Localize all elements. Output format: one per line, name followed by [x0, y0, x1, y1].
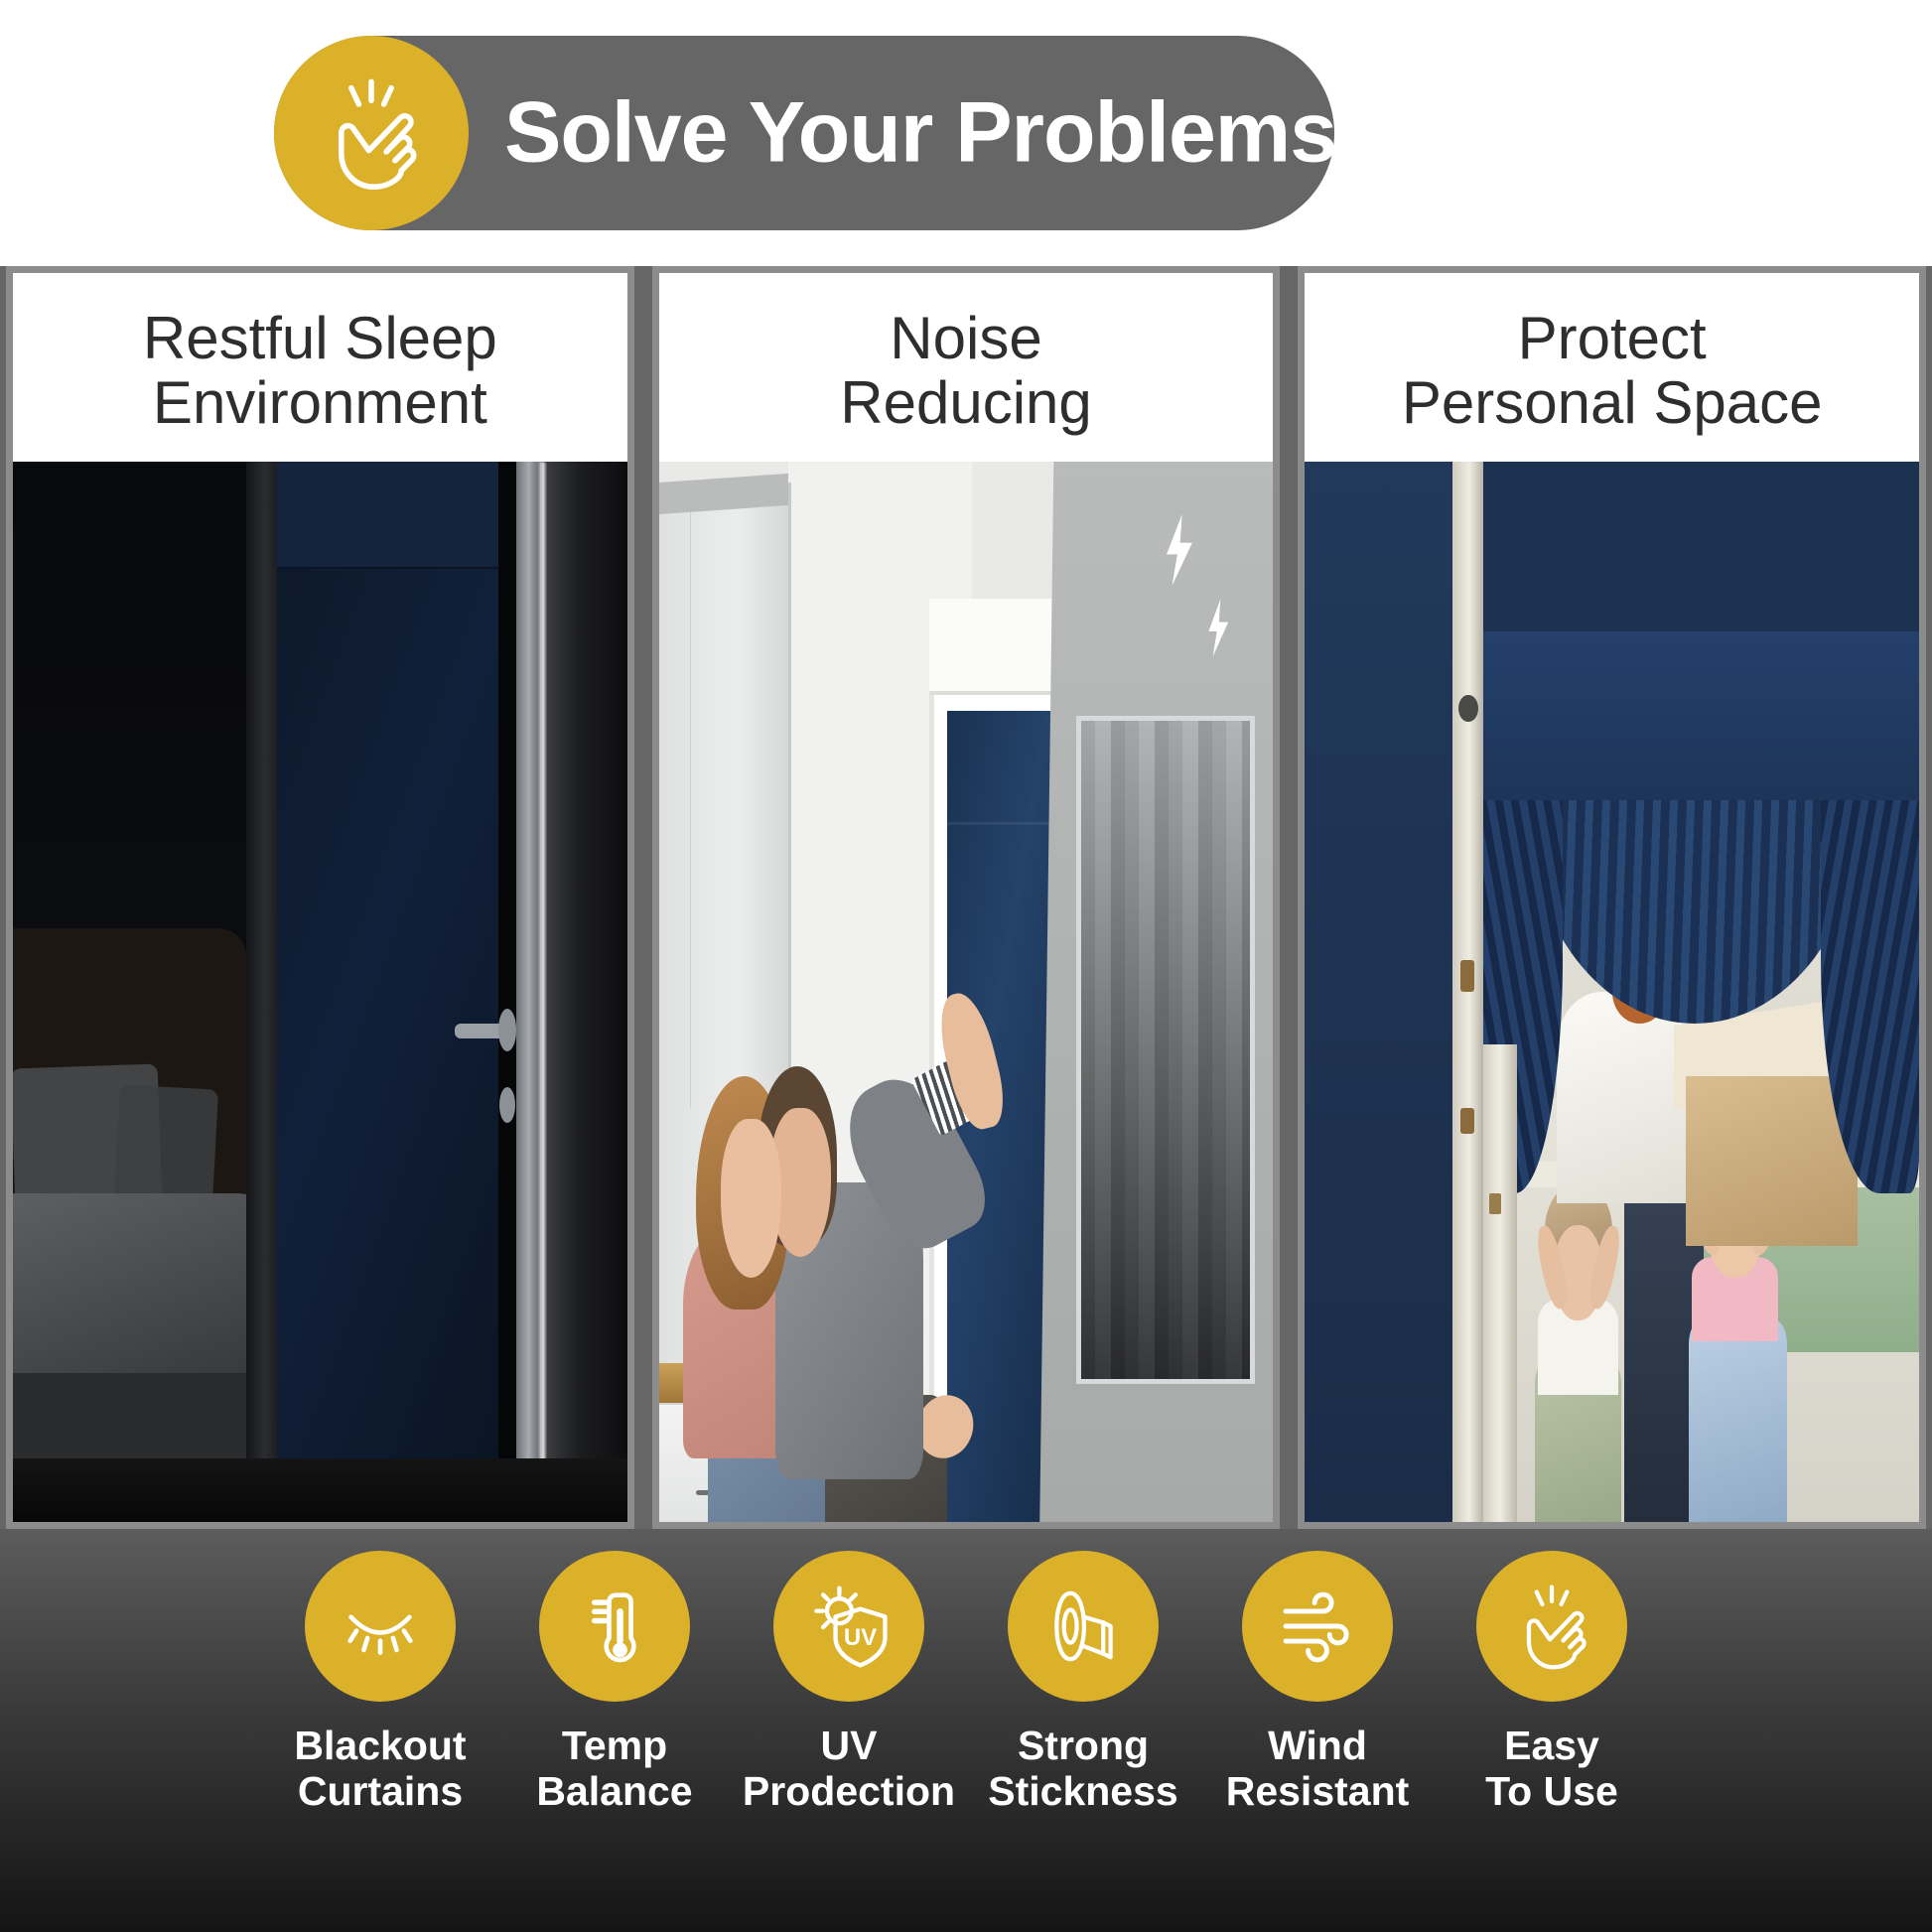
- feature-strong-stickness: Strong Stickness: [966, 1551, 1200, 1815]
- feature-label-line-1: Blackout: [294, 1724, 466, 1769]
- feature-blackout-curtains: Blackout Curtains: [263, 1551, 497, 1815]
- panel-title: Restful Sleep Environment: [13, 273, 627, 462]
- tap-hand-icon: [1476, 1551, 1627, 1702]
- thermometer-icon: [539, 1551, 690, 1702]
- feature-label: Strong Stickness: [988, 1724, 1177, 1815]
- panel-title: Noise Reducing: [659, 273, 1274, 462]
- feature-label: Blackout Curtains: [294, 1724, 466, 1815]
- tape-roll-icon: [1008, 1551, 1159, 1702]
- feature-temp-balance: Temp Balance: [497, 1551, 732, 1815]
- feature-benefits-strip: Blackout Curtains Temp Balance: [0, 1529, 1932, 1932]
- feature-label-line-2: Curtains: [294, 1769, 466, 1815]
- feature-label: Easy To Use: [1485, 1724, 1618, 1815]
- feature-label-line-2: Balance: [536, 1769, 692, 1815]
- feature-label-line-1: Temp: [536, 1724, 692, 1769]
- feature-label-line-2: To Use: [1485, 1769, 1618, 1815]
- panel-photo-noise-reducing: [659, 462, 1274, 1522]
- uv-shield-icon: UV: [773, 1551, 924, 1702]
- panel-photo-personal-space: [1305, 462, 1919, 1522]
- panel-title-line-2: Environment: [19, 371, 621, 436]
- closed-eye-icon: [305, 1551, 456, 1702]
- panel-title-line-1: Restful Sleep: [19, 307, 621, 371]
- feature-label-line-1: Easy: [1485, 1724, 1618, 1769]
- page-title: Solve Your Problems: [504, 84, 1336, 183]
- feature-label: UV Prodection: [743, 1724, 955, 1815]
- panel-title-line-1: Noise: [665, 307, 1268, 371]
- panel-protect-personal-space: Protect Personal Space: [1298, 266, 1926, 1529]
- panel-photo-dark-bedroom: [13, 462, 627, 1522]
- panel-noise-reducing: Noise Reducing: [652, 266, 1281, 1529]
- feature-label-line-2: Resistant: [1226, 1769, 1410, 1815]
- feature-label: Wind Resistant: [1226, 1724, 1410, 1815]
- svg-text:UV: UV: [844, 1624, 877, 1651]
- feature-label-line-1: UV: [743, 1724, 955, 1769]
- feature-easy-to-use: Easy To Use: [1435, 1551, 1669, 1815]
- tap-hand-icon: [274, 36, 469, 230]
- feature-uv-prodection: UV UV Prodection: [732, 1551, 966, 1815]
- feature-label-line-2: Stickness: [988, 1769, 1177, 1815]
- panel-title-line-2: Personal Space: [1311, 371, 1913, 436]
- feature-label-line-1: Strong: [988, 1724, 1177, 1769]
- panel-title: Protect Personal Space: [1305, 273, 1919, 462]
- panel-restful-sleep: Restful Sleep Environment: [6, 266, 634, 1529]
- wind-icon: [1242, 1551, 1393, 1702]
- feature-label: Temp Balance: [536, 1724, 692, 1815]
- feature-panels: Restful Sleep Environment Noise R: [0, 266, 1932, 1529]
- header-banner: Solve Your Problems: [274, 36, 1334, 230]
- feature-wind-resistant: Wind Resistant: [1200, 1551, 1435, 1815]
- feature-label-line-1: Wind: [1226, 1724, 1410, 1769]
- panel-title-line-1: Protect: [1311, 307, 1913, 371]
- feature-label-line-2: Prodection: [743, 1769, 955, 1815]
- panel-title-line-2: Reducing: [665, 371, 1268, 436]
